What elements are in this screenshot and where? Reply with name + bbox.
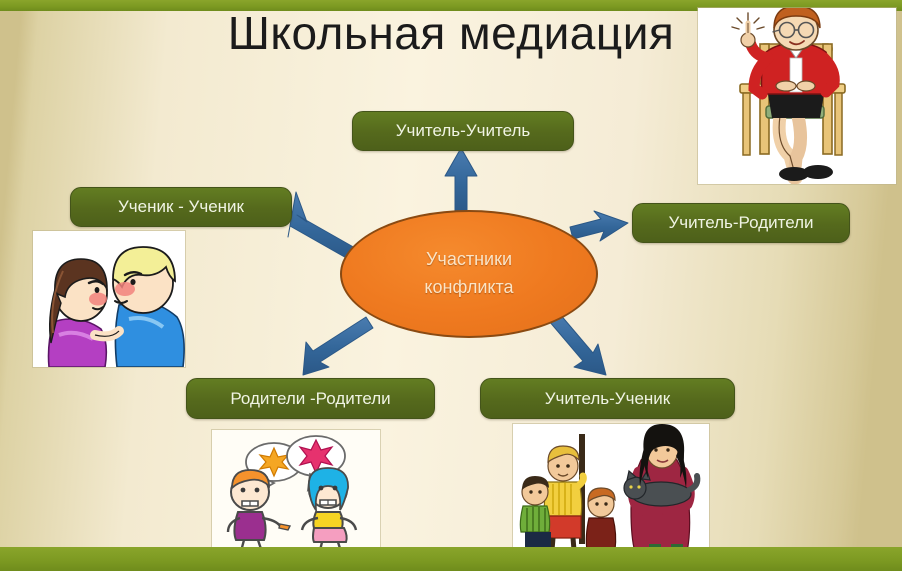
center-node-line2: конфликта: [424, 274, 513, 302]
node-teacher-student[interactable]: Учитель-Ученик: [480, 378, 735, 419]
mother-with-children-image: [513, 424, 709, 552]
node-parent-parent[interactable]: Родители -Родители: [186, 378, 435, 419]
arrow-lower-left: [303, 317, 373, 375]
two-students-image: [33, 231, 185, 367]
center-node-line1: Участники: [426, 246, 512, 274]
node-label: Учитель-Родители: [668, 213, 813, 233]
teacher-at-desk-icon: [698, 8, 896, 184]
center-node-participants[interactable]: Участники конфликта: [340, 210, 598, 338]
node-student-student[interactable]: Ученик - Ученик: [70, 187, 292, 227]
node-teacher-teacher[interactable]: Учитель-Учитель: [352, 111, 574, 151]
node-label: Учитель-Ученик: [545, 389, 671, 409]
bottom-green-band: [0, 547, 902, 571]
node-label: Родители -Родители: [230, 389, 390, 409]
teacher-at-desk-image: [698, 8, 896, 184]
node-label: Учитель-Учитель: [396, 121, 531, 141]
arrow-lower-right: [549, 313, 606, 375]
arrow-upper-right: [570, 211, 628, 241]
arrow-up: [445, 148, 477, 215]
node-label: Ученик - Ученик: [118, 197, 244, 217]
two-children-shouting-icon: [212, 430, 380, 555]
children-shouting-image: [212, 430, 380, 555]
mother-with-children-icon: [513, 424, 709, 552]
two-students-arguing-icon: [33, 231, 185, 367]
node-teacher-parent[interactable]: Учитель-Родители: [632, 203, 850, 243]
slide-canvas: Школьная медиация: [0, 0, 902, 571]
